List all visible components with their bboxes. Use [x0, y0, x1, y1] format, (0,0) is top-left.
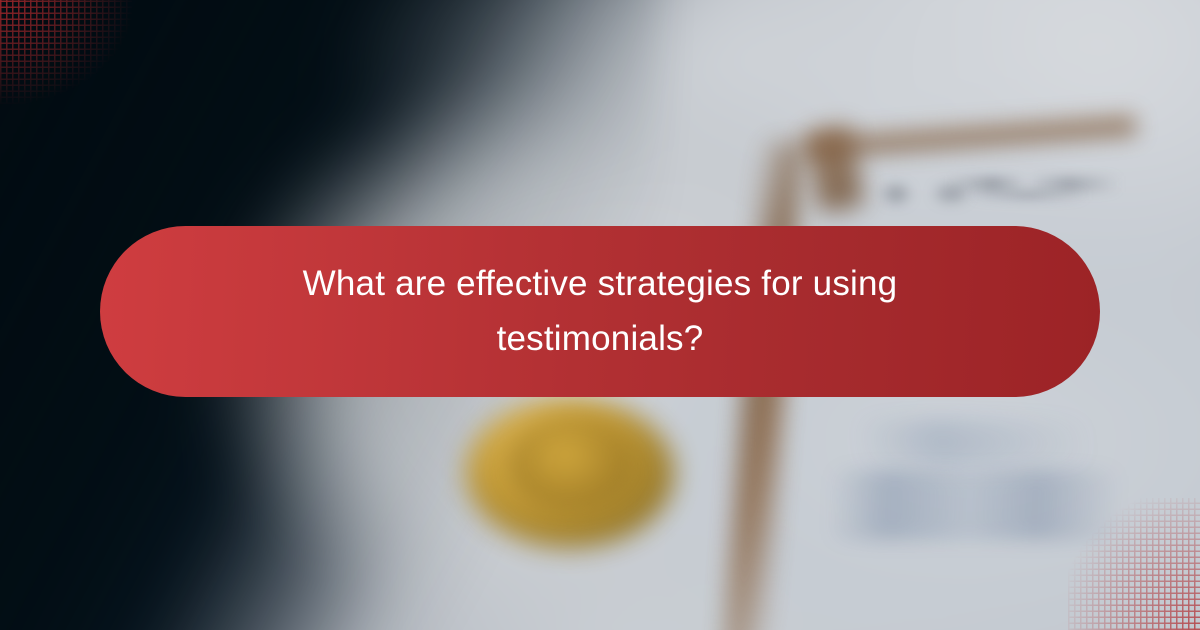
- paper-dot-mark-secondary: [936, 186, 966, 201]
- question-card-canvas: What are effective strategies for using …: [0, 0, 1200, 630]
- paper-text-marks-secondary: [968, 190, 1088, 200]
- paper-dot-mark: [884, 186, 908, 202]
- decor-grid-top-left-icon: [0, 0, 132, 104]
- decor-grid-bottom-right-icon: [1068, 498, 1200, 630]
- question-pill: What are effective strategies for using …: [100, 226, 1100, 397]
- bitcoin-coin-face: [508, 416, 634, 512]
- question-text: What are effective strategies for using …: [250, 257, 950, 366]
- chart-line-upper: [860, 420, 1090, 464]
